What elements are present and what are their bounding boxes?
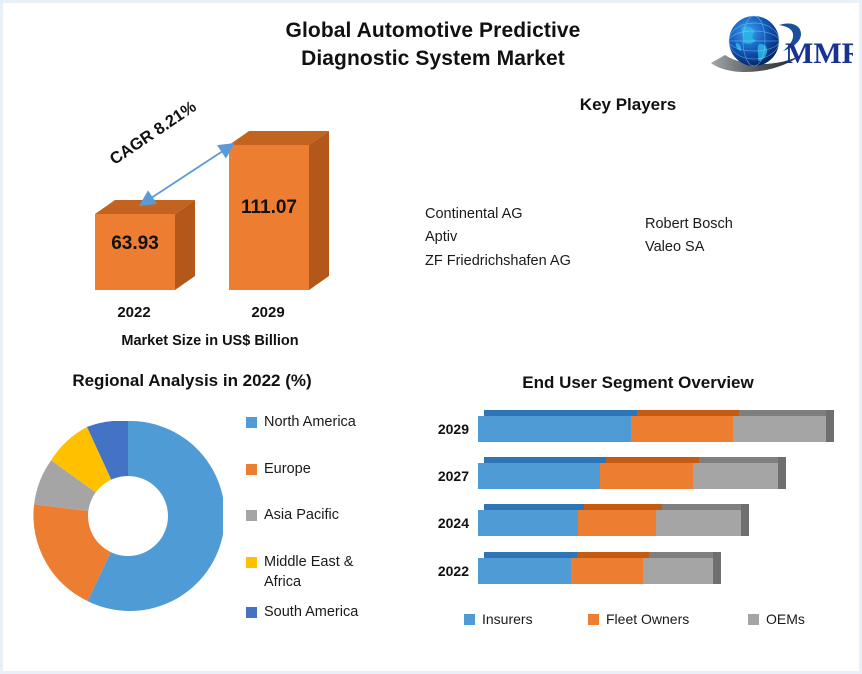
key-player-item: Aptiv: [425, 226, 655, 249]
end-user-legend-item-insurers: Insurers: [464, 611, 533, 627]
bar-2029-category: 2029: [223, 304, 313, 321]
legend-swatch-icon: [246, 464, 257, 475]
segment-oems-top: [649, 552, 719, 558]
infographic-page: Global Automotive Predictive Diagnostic …: [0, 0, 862, 674]
segment-fleet-owners: [631, 416, 733, 442]
page-title-line2: Diagnostic System Market: [183, 45, 683, 73]
key-player-item: Continental AG: [425, 203, 655, 226]
segment-fleet-owners-top: [584, 504, 662, 510]
legend-swatch-icon: [588, 614, 599, 625]
end-user-year-2029: 2029: [423, 421, 469, 437]
end-user-year-2024: 2024: [423, 515, 469, 531]
segment-insurers: [478, 510, 578, 536]
legend-label: North America: [264, 413, 356, 433]
segment-insurers-top: [484, 410, 637, 416]
segment-fleet-owners: [578, 510, 656, 536]
segment-oems: [656, 510, 741, 536]
legend-swatch-icon: [748, 614, 759, 625]
segment-oems-side: [741, 504, 749, 536]
legend-item-europe: Europe: [246, 460, 406, 480]
segment-oems: [733, 416, 826, 442]
key-player-item: Robert Bosch: [645, 213, 845, 236]
legend-item-asia-pacific: Asia Pacific: [246, 506, 406, 526]
end-user-bar-2024: [478, 510, 741, 536]
legend-item-middle-east-africa: Middle East & Africa: [246, 553, 406, 592]
segment-insurers: [478, 463, 600, 489]
legend-swatch-icon: [246, 607, 257, 618]
legend-label: South America: [264, 603, 358, 623]
segment-insurers-top: [484, 457, 606, 463]
segment-oems-top: [662, 504, 747, 510]
key-players-right-column: Robert Bosch Valeo SA: [645, 213, 845, 260]
mmr-logo-icon: MMR: [709, 11, 853, 79]
page-title-line1: Global Automotive Predictive: [183, 17, 683, 45]
bar-2022-category: 2022: [89, 304, 179, 321]
regional-donut-chart: [33, 421, 223, 611]
regional-analysis-title: Regional Analysis in 2022 (%): [17, 371, 367, 391]
legend-swatch-icon: [246, 510, 257, 521]
segment-insurers-top: [484, 504, 584, 510]
legend-item-south-america: South America: [246, 603, 406, 623]
end-user-legend-item-oems: OEMs: [748, 611, 805, 627]
segment-oems-side: [826, 410, 834, 442]
legend-label: OEMs: [766, 611, 805, 627]
end-user-bar-2029: [478, 416, 826, 442]
segment-oems: [643, 558, 713, 584]
end-user-year-2027: 2027: [423, 468, 469, 484]
segment-fleet-owners-top: [606, 457, 699, 463]
legend-item-north-america: North America: [246, 413, 406, 433]
legend-label: Fleet Owners: [606, 611, 689, 627]
cagr-arrow-icon: [98, 118, 273, 243]
segment-fleet-owners: [571, 558, 643, 584]
end-user-bar-2027: [478, 463, 778, 489]
key-player-item: Valeo SA: [645, 236, 845, 259]
legend-label: Insurers: [482, 611, 533, 627]
segment-insurers: [478, 416, 631, 442]
mmr-logo: MMR: [709, 11, 853, 79]
market-size-axis-label: Market Size in US$ Billion: [65, 333, 355, 349]
legend-label: Europe: [264, 460, 311, 480]
legend-swatch-icon: [246, 417, 257, 428]
donut-hole: [88, 476, 168, 556]
end-user-bar-2022: [478, 558, 713, 584]
legend-swatch-icon: [246, 557, 257, 568]
end-user-legend-item-fleet-owners: Fleet Owners: [588, 611, 689, 627]
key-players-left-column: Continental AG Aptiv ZF Friedrichshafen …: [425, 203, 655, 273]
key-player-item: ZF Friedrichshafen AG: [425, 250, 655, 273]
legend-label: Middle East & Africa: [264, 553, 384, 592]
segment-fleet-owners-top: [637, 410, 739, 416]
mmr-logo-text: MMR: [785, 37, 853, 70]
legend-swatch-icon: [464, 614, 475, 625]
page-title: Global Automotive Predictive Diagnostic …: [183, 17, 683, 72]
segment-oems: [693, 463, 778, 489]
legend-label: Asia Pacific: [264, 506, 339, 526]
segment-oems-top: [739, 410, 832, 416]
end-user-title: End User Segment Overview: [443, 373, 833, 393]
segment-fleet-owners-top: [577, 552, 649, 558]
segment-oems-side: [778, 457, 786, 489]
segment-oems-side: [713, 552, 721, 584]
regional-legend: North America Europe Asia Pacific Middle…: [246, 413, 406, 632]
segment-fleet-owners: [600, 463, 693, 489]
cagr-annotation: CAGR 8.21%: [98, 118, 273, 243]
segment-insurers-top: [484, 552, 577, 558]
end-user-year-2022: 2022: [423, 563, 469, 579]
segment-insurers: [478, 558, 571, 584]
key-players-title: Key Players: [473, 95, 783, 115]
segment-oems-top: [699, 457, 784, 463]
